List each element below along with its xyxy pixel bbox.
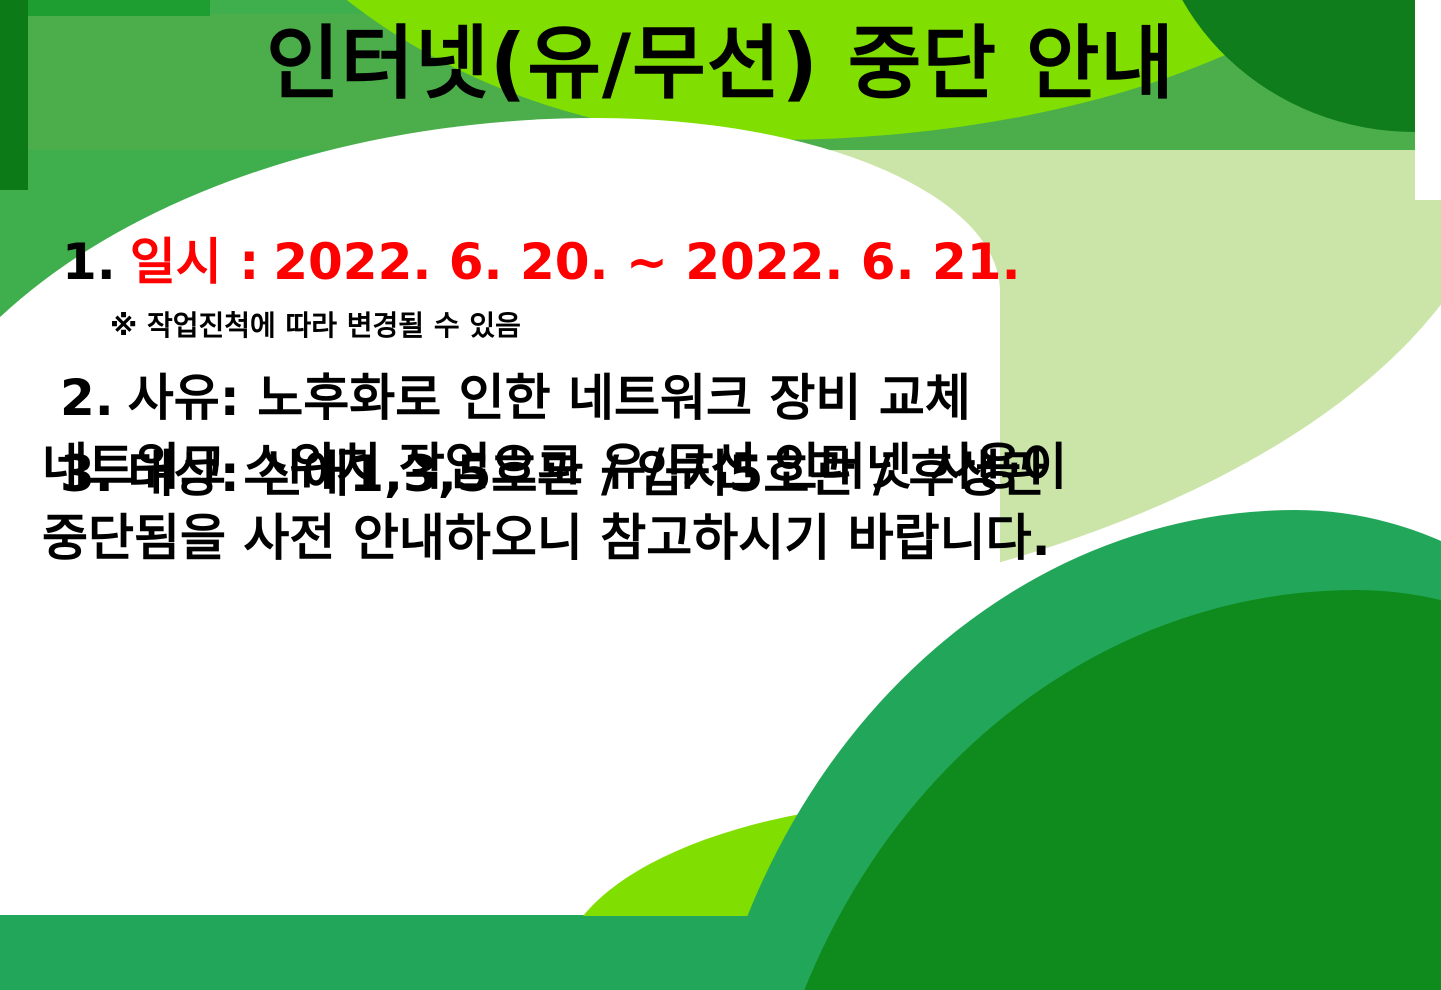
schedule-footnote: ※ 작업진척에 따라 변경될 수 있음 <box>0 304 1441 344</box>
schedule-value: 2022. 6. 20. ~ 2022. 6. 21. <box>273 233 1020 291</box>
list-item-marker-2: 2. <box>60 369 114 427</box>
notice-poster: 인터넷(유/무선) 중단 안내 1. 일시 : 2022. 6. 20. ~ 2… <box>0 0 1441 990</box>
reason-text: 사유: 노후화로 인한 네트워크 장비 교체 <box>128 358 971 430</box>
schedule-label: 일시 : <box>130 222 259 294</box>
closing-paragraph-line-1: 네트워크 스위치 작업으로 유/무선 인터넷 사용이 <box>42 432 1441 503</box>
footer-dark-corner-block <box>1111 840 1441 990</box>
list-item-marker-1: 1. <box>62 233 116 291</box>
list-item-reason: 2. 사유: 노후화로 인한 네트워크 장비 교체 <box>0 358 1441 430</box>
list-item-schedule: 1. 일시 : 2022. 6. 20. ~ 2022. 6. 21. <box>0 222 1441 294</box>
page-title: 인터넷(유/무선) 중단 안내 <box>0 14 1441 114</box>
